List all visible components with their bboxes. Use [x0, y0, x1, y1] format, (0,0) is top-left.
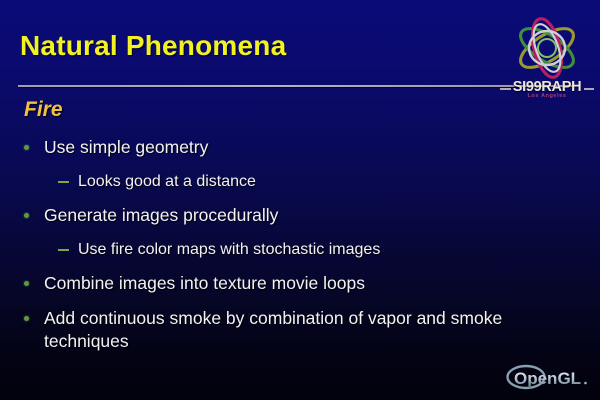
list-item-text: Combine images into texture movie loops	[44, 272, 365, 295]
title-divider	[18, 85, 575, 87]
siggraph-city-label: Los Angeles	[498, 93, 596, 99]
bullet-dot-icon	[24, 213, 29, 218]
slide-subtitle: Fire	[24, 98, 63, 122]
list-item-text: Looks good at a distance	[78, 171, 256, 192]
bullet-dash-icon	[58, 249, 69, 251]
bullet-dot-icon	[24, 145, 29, 150]
page-title: Natural Phenomena	[20, 30, 286, 62]
list-item-text: Use simple geometry	[44, 136, 208, 159]
opengl-logo-icon: OpenGL	[506, 362, 594, 392]
list-item: Combine images into texture movie loops	[18, 272, 584, 295]
list-item: Add continuous smoke by combination of v…	[18, 307, 584, 353]
bullet-list: Use simple geometry Looks good at a dist…	[18, 136, 584, 365]
bullet-dash-icon	[58, 181, 69, 183]
presentation-slide: Natural Phenomena Fire Use simple geomet…	[0, 0, 600, 400]
list-item-text: Add continuous smoke by combination of v…	[44, 307, 584, 353]
list-item-text: Generate images procedurally	[44, 204, 278, 227]
svg-text:OpenGL: OpenGL	[514, 369, 581, 388]
bullet-dot-icon	[24, 316, 29, 321]
list-item: Use simple geometry	[18, 136, 584, 159]
list-item: Looks good at a distance	[18, 171, 584, 192]
list-item-text: Use fire color maps with stochastic imag…	[78, 239, 380, 260]
list-item: Use fire color maps with stochastic imag…	[18, 239, 584, 260]
list-item: Generate images procedurally	[18, 204, 584, 227]
bullet-dot-icon	[24, 281, 29, 286]
